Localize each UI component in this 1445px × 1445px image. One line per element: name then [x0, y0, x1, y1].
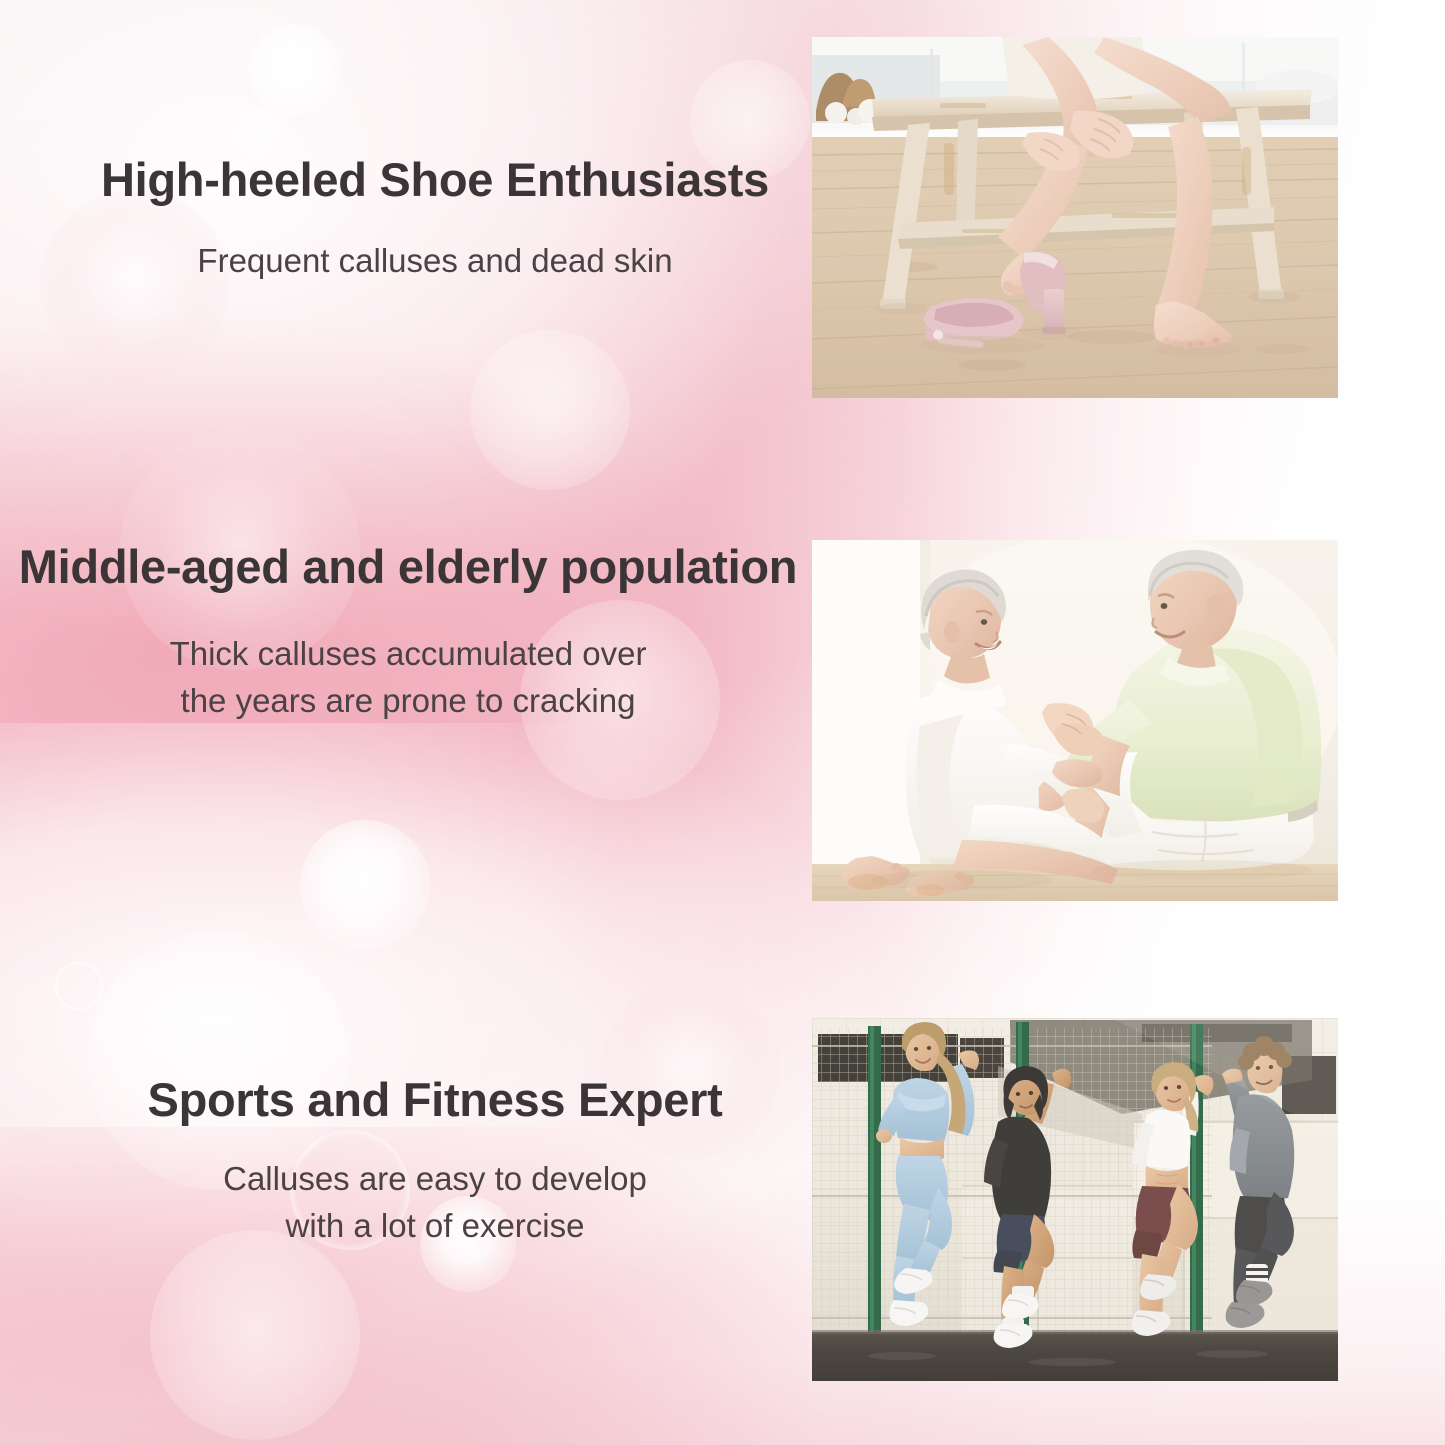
section-2-subline-line-1: Thick calluses accumulated over: [0, 631, 816, 678]
elderly-couple-on-floor-photo: [812, 540, 1338, 901]
section-2-headline: Middle-aged and elderly population: [0, 542, 816, 593]
four-athletes-high-knee-jump-photo: [812, 1018, 1338, 1381]
product-infographic-poster: High-heeled Shoe Enthusiasts Frequent ca…: [0, 0, 1445, 1445]
section-2-text-block: Middle-aged and elderly population Thick…: [0, 542, 816, 724]
section-2-subline-line-2: the years are prone to cracking: [0, 678, 816, 725]
section-3-subline-line-2: with a lot of exercise: [60, 1203, 810, 1250]
section-1-subline-line-1: Frequent calluses and dead skin: [60, 238, 810, 285]
woman-rubbing-foot-on-bench-photo: [812, 37, 1338, 398]
section-1-headline: High-heeled Shoe Enthusiasts: [60, 155, 810, 206]
section-3-subline-line-1: Calluses are easy to develop: [60, 1156, 810, 1203]
section-1-text-block: High-heeled Shoe Enthusiasts Frequent ca…: [60, 155, 810, 285]
section-3-text-block: Sports and Fitness Expert Calluses are e…: [60, 1075, 810, 1249]
section-3-headline: Sports and Fitness Expert: [60, 1075, 810, 1126]
